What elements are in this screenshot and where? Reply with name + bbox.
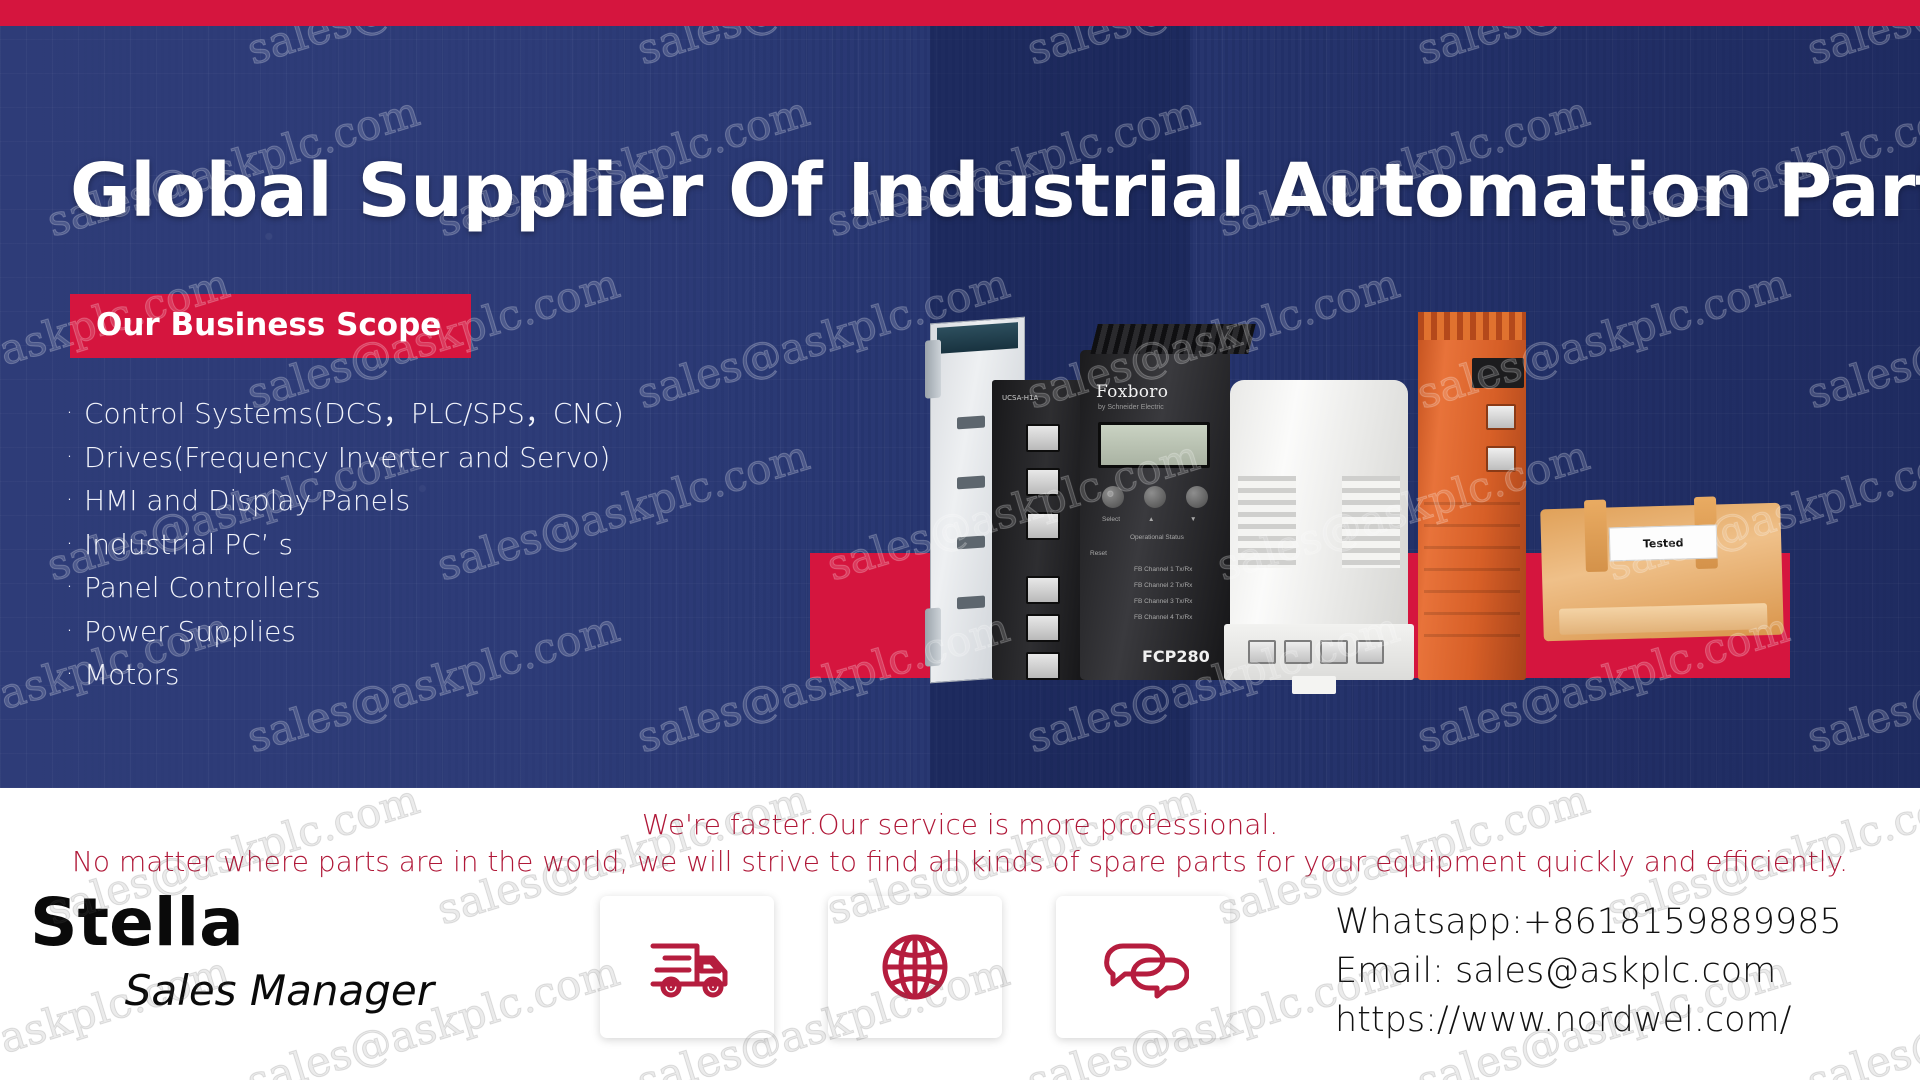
module-rib xyxy=(1424,568,1520,571)
list-item-label: Control Systems(DCS，PLC/SPS，CNC) xyxy=(84,397,624,430)
tagline-line-2: No matter where parts are in the world, … xyxy=(0,845,1920,878)
rj45-port xyxy=(1026,652,1060,680)
product-foxboro-fcp280: Foxboro by Schneider Electric Select ▲ ▼… xyxy=(1080,350,1230,680)
website-line[interactable]: https://www.nordwel.com/ xyxy=(1335,996,1842,1045)
list-item-label: Industrial PC’ s xyxy=(84,528,293,561)
card-slot xyxy=(957,595,985,609)
module-top-vents xyxy=(1418,312,1526,340)
bullet-icon: · xyxy=(66,662,73,687)
module-rib xyxy=(1424,590,1520,593)
rj45-port xyxy=(1356,640,1384,664)
terminal-rail xyxy=(1559,603,1768,635)
card-handle-bottom xyxy=(925,608,941,667)
rj45-port xyxy=(1248,640,1276,664)
card-slot xyxy=(957,535,985,549)
module-rib xyxy=(1424,612,1520,615)
salesperson-name: Stella xyxy=(30,890,550,956)
tested-label: Tested xyxy=(1610,525,1717,562)
channel-label: FB Channel 4 Tx/Rx xyxy=(1134,614,1192,621)
worldwide-service-card[interactable] xyxy=(828,896,1002,1038)
business-scope-badge: Our Business Scope xyxy=(70,294,471,358)
down-button xyxy=(1186,486,1208,508)
list-item: ·Panel Controllers xyxy=(66,566,624,610)
product-orange-io-module xyxy=(1418,312,1526,680)
list-item: ·Motors xyxy=(66,653,624,697)
product-ge-ethernet-switch: UCSA-H1A xyxy=(992,380,1088,680)
tagline-line-1: We're faster.Our service is more profess… xyxy=(0,808,1920,841)
list-item: ·Power Supplies xyxy=(66,610,624,654)
fast-delivery-card[interactable] xyxy=(600,896,774,1038)
rj45-port xyxy=(1026,468,1060,496)
down-button-label: ▼ xyxy=(1190,516,1196,523)
select-button xyxy=(1102,486,1124,508)
list-item-label: Motors xyxy=(84,658,180,691)
page-title: Global Supplier Of Industrial Automation… xyxy=(70,148,1920,234)
signature-block: Stella Sales Manager xyxy=(30,890,550,1015)
bullet-icon: · xyxy=(66,401,73,426)
contact-details: Whatsapp:+8618159889985 Email: sales@ask… xyxy=(1335,898,1842,1045)
globe-icon xyxy=(875,927,955,1007)
top-accent-stripe xyxy=(0,0,1920,26)
channel-label: FB Channel 2 Tx/Rx xyxy=(1134,582,1192,589)
module-status-block xyxy=(1472,358,1524,388)
channel-label: FB Channel 3 Tx/Rx xyxy=(1134,598,1192,605)
card-handle-top xyxy=(925,340,941,399)
salesperson-role: Sales Manager xyxy=(30,966,550,1015)
lcd-display xyxy=(1098,422,1210,468)
module-rib xyxy=(1424,634,1520,637)
module-rib xyxy=(1424,524,1520,527)
bullet-icon: · xyxy=(66,488,73,513)
up-button-label: ▲ xyxy=(1148,516,1154,523)
bullet-icon: · xyxy=(66,619,73,644)
rj45-port xyxy=(1486,446,1516,472)
delivery-truck-icon xyxy=(639,932,735,1002)
foxboro-sub-label: by Schneider Electric xyxy=(1098,404,1164,411)
mounting-foot xyxy=(1292,676,1336,694)
rj45-port xyxy=(1320,640,1348,664)
terminal-clip xyxy=(1584,500,1608,573)
bullet-icon: · xyxy=(66,532,73,557)
bullet-icon: · xyxy=(66,575,73,600)
bullet-icon: · xyxy=(66,445,73,470)
reset-label: Reset xyxy=(1090,550,1107,557)
rj45-port xyxy=(1284,640,1312,664)
module-rib xyxy=(1424,502,1520,505)
card-slot xyxy=(957,475,985,489)
foxboro-model-label: FCP280 xyxy=(1142,647,1210,666)
rj45-port xyxy=(1026,512,1060,540)
email-line[interactable]: Email: sales@askplc.com xyxy=(1335,947,1842,996)
product-terminal-block: Tested xyxy=(1540,503,1784,642)
card-slot xyxy=(957,415,985,429)
product-collage: UCSA-H1A Foxboro by Schneider Electric S… xyxy=(930,280,1830,680)
channel-label: FB Channel 1 Tx/Rx xyxy=(1134,566,1192,573)
foxboro-brand-label: Foxboro xyxy=(1096,382,1168,402)
rj45-port xyxy=(1026,576,1060,604)
vent-grille xyxy=(1238,476,1296,568)
whatsapp-line[interactable]: Whatsapp:+8618159889985 xyxy=(1335,898,1842,947)
module-rib xyxy=(1424,546,1520,549)
list-item: ·HMI and Display Panels xyxy=(66,479,624,523)
up-button xyxy=(1144,486,1166,508)
rj45-port xyxy=(1026,614,1060,642)
list-item-label: HMI and Display Panels xyxy=(84,484,410,517)
list-item: ·Control Systems(DCS，PLC/SPS，CNC) xyxy=(66,392,624,436)
select-button-label: Select xyxy=(1102,516,1120,523)
vent-grille xyxy=(1342,476,1400,568)
service-icon-cards xyxy=(600,896,1230,1038)
rj45-port xyxy=(1026,424,1060,452)
list-item-label: Power Supplies xyxy=(84,615,296,648)
card-top-connector xyxy=(937,322,1018,354)
product-abb-controller xyxy=(1230,380,1408,680)
business-scope-list: ·Control Systems(DCS，PLC/SPS，CNC) ·Drive… xyxy=(66,392,624,697)
hero-banner: Global Supplier Of Industrial Automation… xyxy=(0,0,1920,788)
switch-model-label: UCSA-H1A xyxy=(1002,394,1038,402)
support-chat-card[interactable] xyxy=(1056,896,1230,1038)
list-item: ·Industrial PC’ s xyxy=(66,523,624,567)
list-item: ·Drives(Frequency Inverter and Servo) xyxy=(66,436,624,480)
heatsink-fins xyxy=(1090,324,1255,354)
list-item-label: Panel Controllers xyxy=(84,571,321,604)
terminal-label-sticker: Tested xyxy=(1609,524,1718,561)
operational-status-label: Operational Status xyxy=(1130,534,1184,541)
rj45-port xyxy=(1486,404,1516,430)
list-item-label: Drives(Frequency Inverter and Servo) xyxy=(84,441,610,474)
chat-bubbles-icon xyxy=(1097,932,1189,1002)
